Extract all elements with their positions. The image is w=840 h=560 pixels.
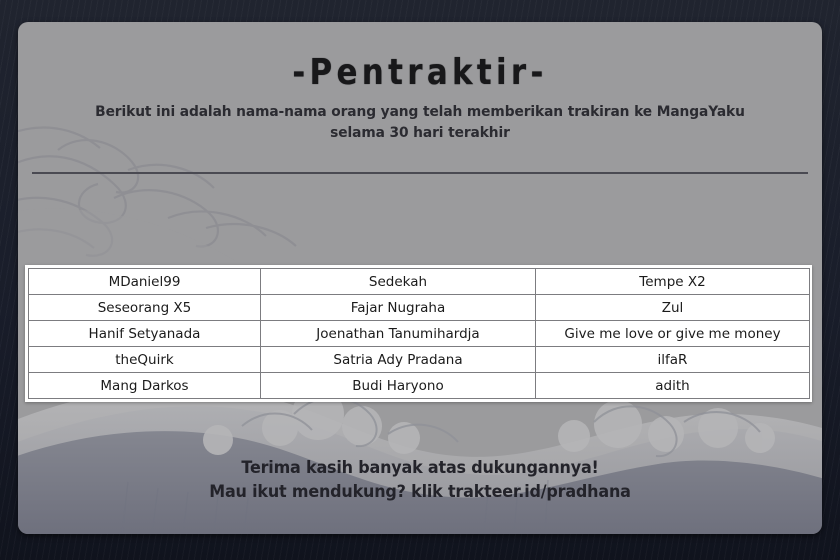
donor-name-cell: Give me love or give me money bbox=[536, 321, 810, 347]
donor-name-cell: Satria Ady Pradana bbox=[261, 347, 536, 373]
table-row: Hanif Setyanada Joenathan Tanumihardja G… bbox=[29, 321, 810, 347]
header: -Pentraktir- Berikut ini adalah nama-nam… bbox=[18, 22, 822, 143]
donor-name-cell: Joenathan Tanumihardja bbox=[261, 321, 536, 347]
donor-name-cell: ilfaR bbox=[536, 347, 810, 373]
donor-name-cell: Zul bbox=[536, 295, 810, 321]
page-root: -Pentraktir- Berikut ini adalah nama-nam… bbox=[0, 0, 840, 560]
donor-name-cell: Budi Haryono bbox=[261, 373, 536, 399]
donor-name-cell: MDaniel99 bbox=[29, 269, 261, 295]
pentraktir-panel: -Pentraktir- Berikut ini adalah nama-nam… bbox=[18, 22, 822, 534]
page-title: -Pentraktir- bbox=[74, 22, 765, 91]
donor-name-cell: Hanif Setyanada bbox=[29, 321, 261, 347]
page-subtitle: Berikut ini adalah nama-nama orang yang … bbox=[38, 91, 802, 143]
footer-support-link-line: Mau ikut mendukung? klik trakteer.id/pra… bbox=[42, 481, 798, 504]
donor-table: MDaniel99 Sedekah Tempe X2 Seseorang X5 … bbox=[28, 268, 810, 399]
donor-name-cell: Sedekah bbox=[261, 269, 536, 295]
donor-name-cell: Mang Darkos bbox=[29, 373, 261, 399]
donor-name-cell: Fajar Nugraha bbox=[261, 295, 536, 321]
donor-name-cell: adith bbox=[536, 373, 810, 399]
table-row: Mang Darkos Budi Haryono adith bbox=[29, 373, 810, 399]
donor-name-cell: theQuirk bbox=[29, 347, 261, 373]
table-row: MDaniel99 Sedekah Tempe X2 bbox=[29, 269, 810, 295]
subtitle-line-2: selama 30 hari terakhir bbox=[38, 123, 802, 144]
header-divider bbox=[32, 172, 808, 174]
donor-name-cell: Seseorang X5 bbox=[29, 295, 261, 321]
donor-name-cell: Tempe X2 bbox=[536, 269, 810, 295]
table-row: Seseorang X5 Fajar Nugraha Zul bbox=[29, 295, 810, 321]
subtitle-line-1: Berikut ini adalah nama-nama orang yang … bbox=[38, 102, 802, 123]
footer-thanks-line: Terima kasih banyak atas dukungannya! bbox=[42, 457, 798, 480]
footer: Terima kasih banyak atas dukungannya! Ma… bbox=[18, 457, 822, 504]
donor-table-container: MDaniel99 Sedekah Tempe X2 Seseorang X5 … bbox=[25, 265, 812, 402]
table-row: theQuirk Satria Ady Pradana ilfaR bbox=[29, 347, 810, 373]
